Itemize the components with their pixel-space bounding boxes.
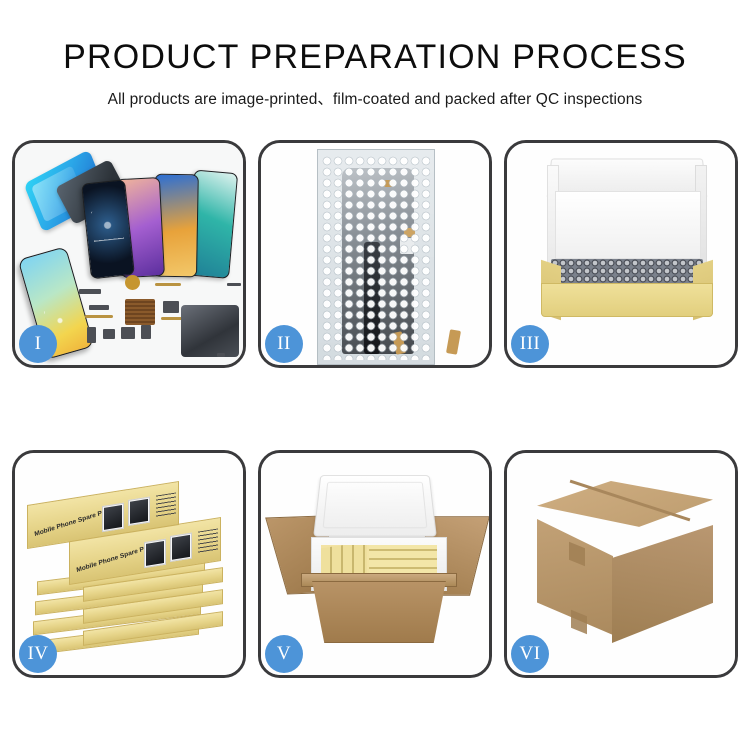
part-tweezers	[227, 283, 241, 286]
step-badge-5: V	[265, 635, 303, 673]
part-screw	[217, 353, 225, 357]
step-panel-2: II	[258, 140, 492, 368]
part-logic-board	[181, 305, 239, 357]
part-ic-grid	[125, 299, 155, 325]
part-flex-cable-3	[161, 317, 183, 320]
step-badge-2: II	[265, 325, 303, 363]
part-connector-1	[89, 305, 109, 310]
box-thumb-1b	[128, 497, 150, 526]
part-chip-1	[163, 301, 179, 313]
screen-crack-icon	[91, 209, 124, 242]
step-panel-3: III	[504, 140, 738, 368]
spare-parts-cluster	[77, 269, 243, 365]
box-thumb-1a	[102, 503, 124, 532]
phone-screen-fan	[87, 157, 237, 277]
part-camera-lens	[125, 275, 140, 290]
part-button	[103, 329, 115, 339]
box-thumb-2a	[144, 539, 166, 568]
box-spec-lines-2	[198, 528, 218, 553]
product-preparation-infographic: PRODUCT PREPARATION PROCESS All products…	[0, 0, 750, 750]
step-badge-1: I	[19, 325, 57, 363]
part-battery-small	[87, 327, 96, 343]
part-flex-cable-2	[85, 315, 113, 318]
step-badge-4: IV	[19, 635, 57, 673]
foam-sheet-icon	[555, 191, 701, 259]
box-stack: Mobile Phone Spare Parts Mobile Phone Sp…	[23, 471, 237, 667]
part-flex-cable-1	[155, 283, 181, 286]
step-panel-5: V	[258, 450, 492, 678]
step-badge-3: III	[511, 325, 549, 363]
carton-body	[303, 581, 455, 643]
tape-piece-4	[446, 329, 461, 355]
bubble-bag	[317, 149, 435, 365]
step-panel-6: VI	[504, 450, 738, 678]
header: PRODUCT PREPARATION PROCESS All products…	[0, 0, 750, 109]
page-title: PRODUCT PREPARATION PROCESS	[0, 36, 750, 78]
step-badge-6: VI	[511, 635, 549, 673]
part-sim-tray	[141, 325, 151, 339]
box-thumb-2b	[170, 533, 192, 562]
part-speaker	[79, 289, 101, 294]
carton-right-face	[612, 525, 713, 643]
box-spec-lines-1	[156, 492, 176, 517]
bubble-texture	[322, 156, 430, 360]
box-front-panel	[541, 283, 713, 317]
part-bracket	[121, 327, 135, 339]
step-panel-1: I	[12, 140, 246, 368]
foam-cooler-lid	[313, 475, 437, 536]
page-subtitle: All products are image-printed、film-coat…	[0, 87, 750, 109]
steps-grid: I II	[12, 140, 738, 678]
step-panel-4: Mobile Phone Spare Parts Mobile Phone Sp…	[12, 450, 246, 678]
